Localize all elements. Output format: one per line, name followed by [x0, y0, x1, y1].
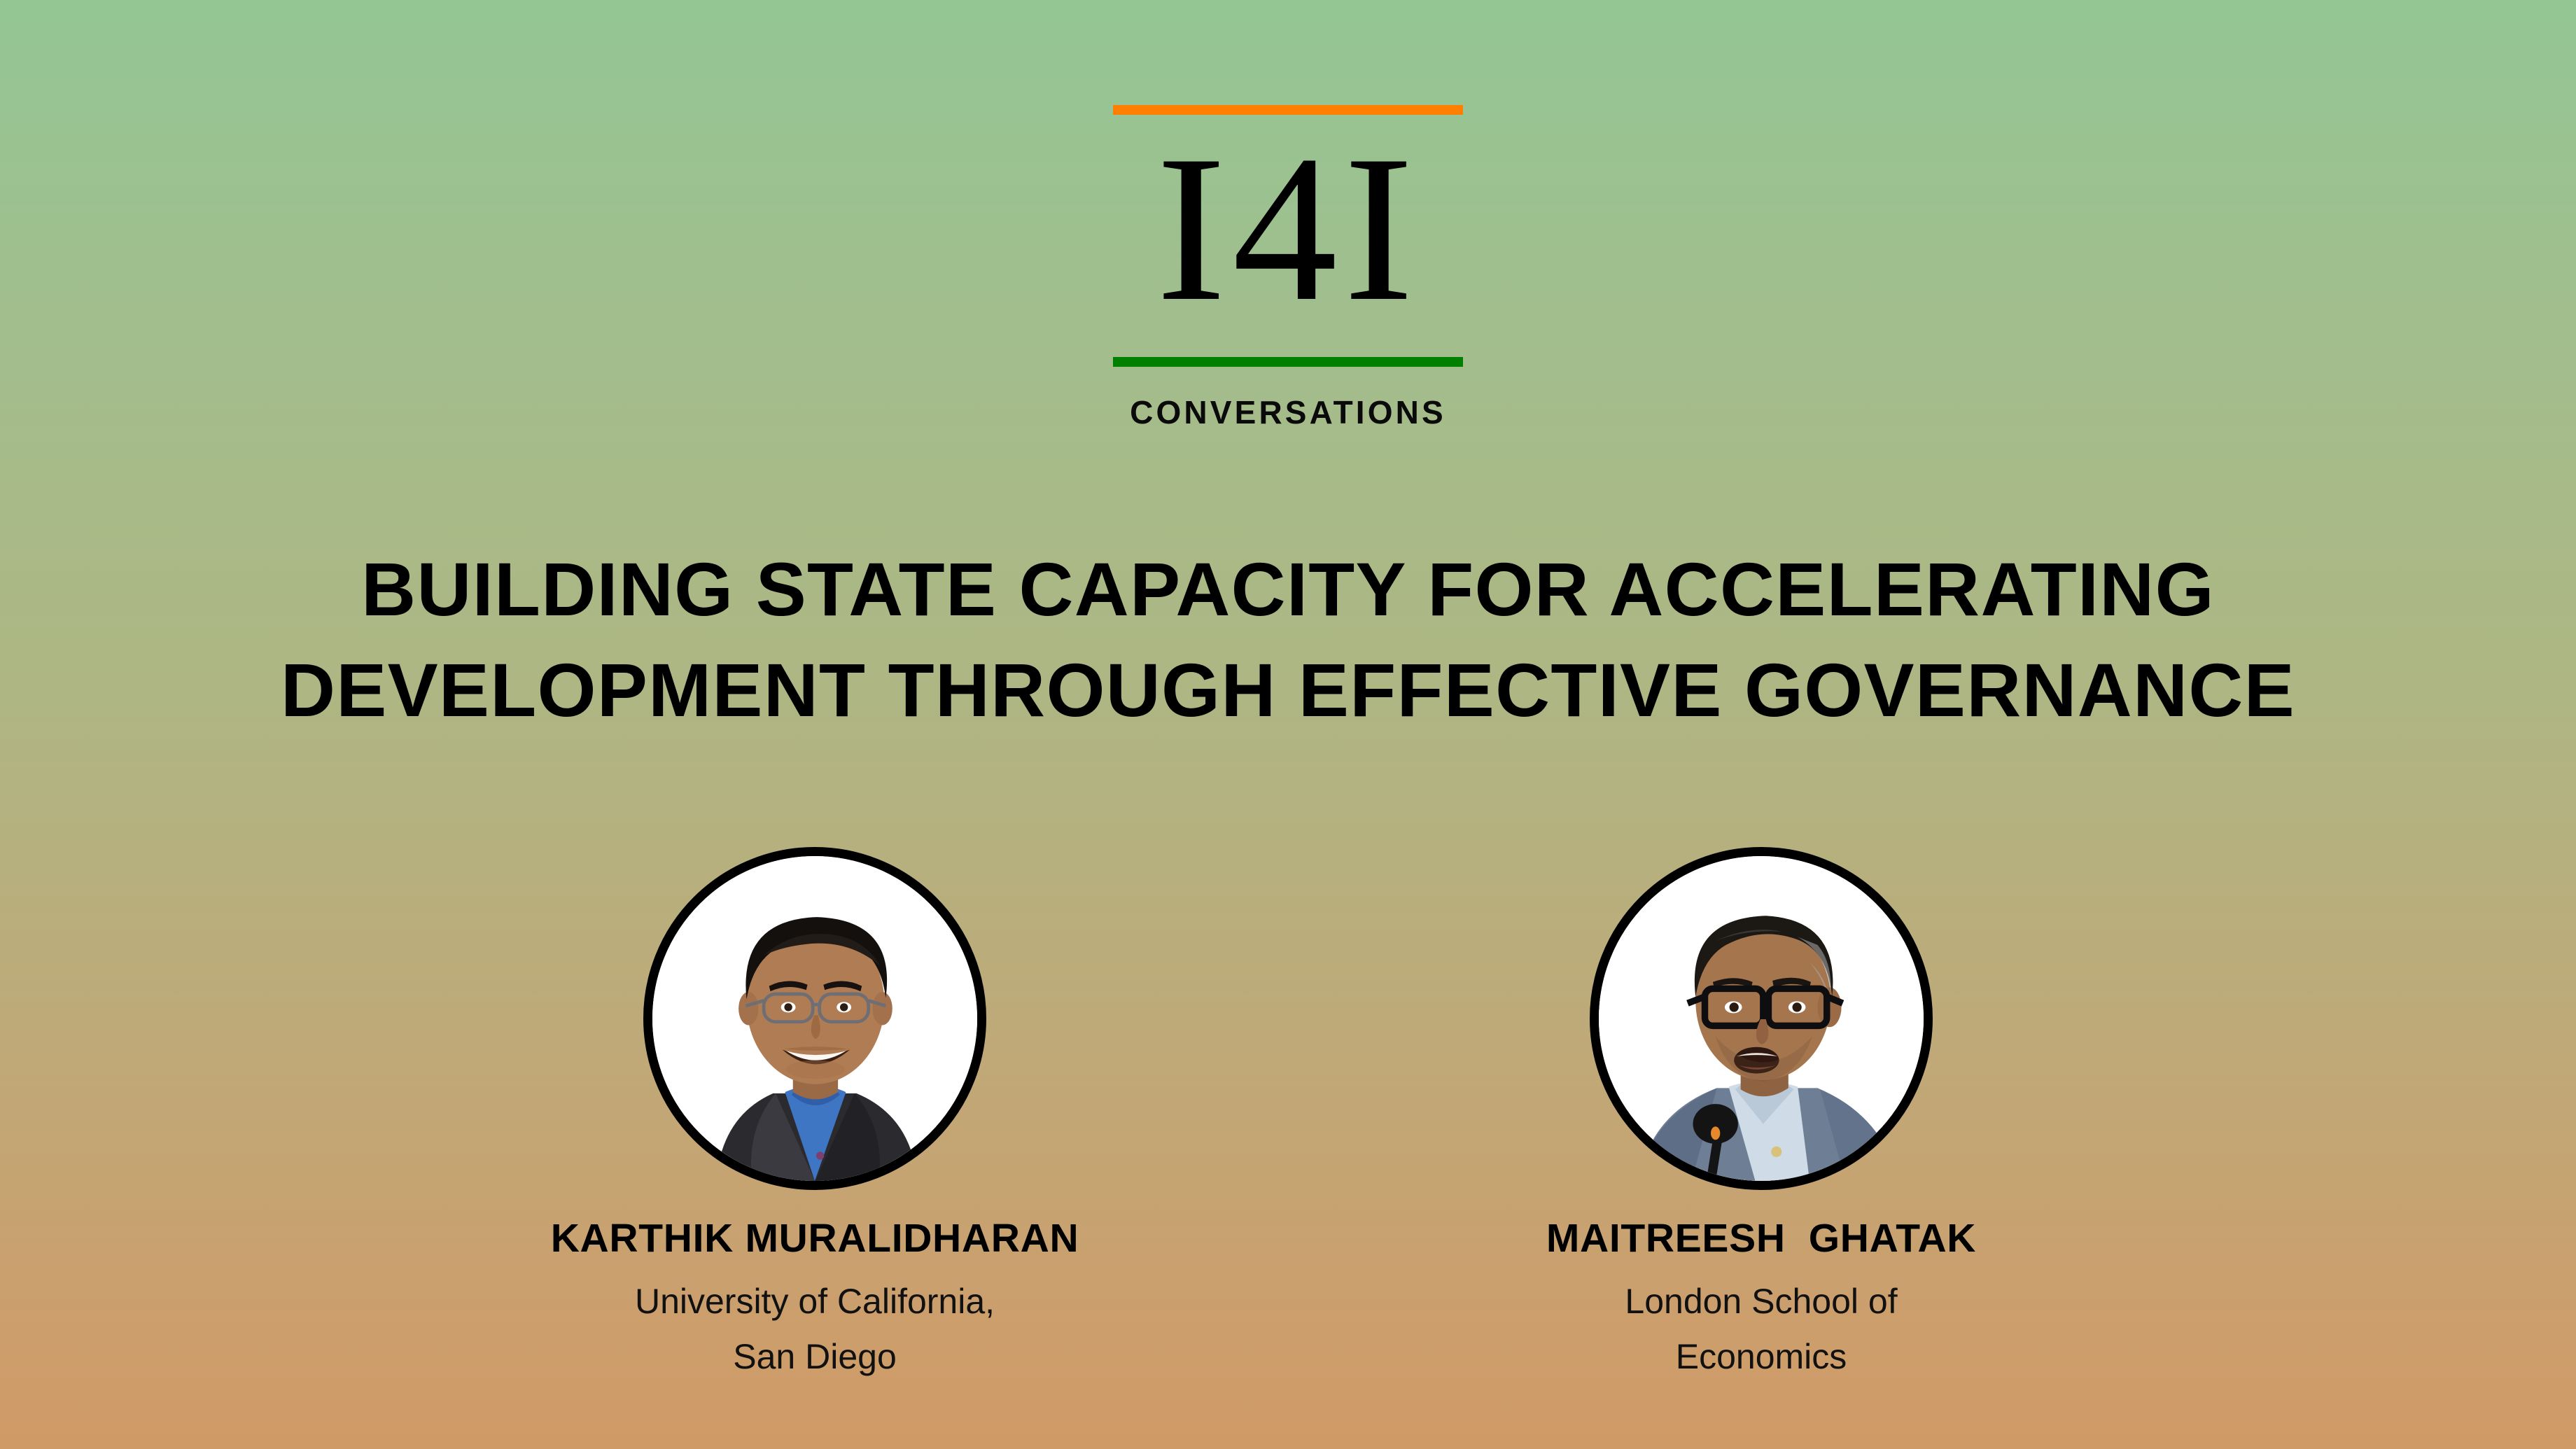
avatar — [1590, 847, 1933, 1190]
logo-rule-green — [1113, 357, 1463, 367]
speaker-affiliation-line-1: London School of — [1625, 1274, 1897, 1329]
speaker-affiliation-line-2: Economics — [1625, 1329, 1897, 1385]
speaker-affiliation: University of California, San Diego — [635, 1274, 995, 1385]
logo-caption: CONVERSATIONS — [1130, 393, 1446, 431]
slide-canvas: I4I CONVERSATIONS BUILDING STATE CAPACIT… — [0, 0, 2576, 1449]
speaker-card-maitreesh-ghatak: MAITREESH GHATAK London School of Econom… — [1516, 847, 2006, 1385]
speaker-affiliation: London School of Economics — [1625, 1274, 1897, 1385]
title-line-1: BUILDING STATE CAPACITY FOR ACCELERATING — [203, 539, 2373, 640]
logo-wordmark: I4I — [1156, 123, 1420, 353]
karthik-muralidharan-portrait-icon — [652, 856, 977, 1181]
maitreesh-ghatak-portrait-icon — [1599, 856, 1924, 1181]
speaker-affiliation-line-1: University of California, — [635, 1274, 995, 1329]
speaker-list: KARTHIK MURALIDHARAN University of Calif… — [0, 847, 2576, 1385]
i4i-logo: I4I CONVERSATIONS — [1106, 105, 1470, 431]
title-line-2: DEVELOPMENT THROUGH EFFECTIVE GOVERNANCE — [203, 640, 2373, 741]
page-title: BUILDING STATE CAPACITY FOR ACCELERATING… — [203, 539, 2373, 740]
speaker-card-karthik-muralidharan: KARTHIK MURALIDHARAN University of Calif… — [570, 847, 1060, 1385]
speaker-name: KARTHIK MURALIDHARAN — [551, 1215, 1079, 1261]
speaker-name: MAITREESH GHATAK — [1546, 1215, 1976, 1261]
avatar — [643, 847, 986, 1190]
speaker-affiliation-line-2: San Diego — [635, 1329, 995, 1385]
